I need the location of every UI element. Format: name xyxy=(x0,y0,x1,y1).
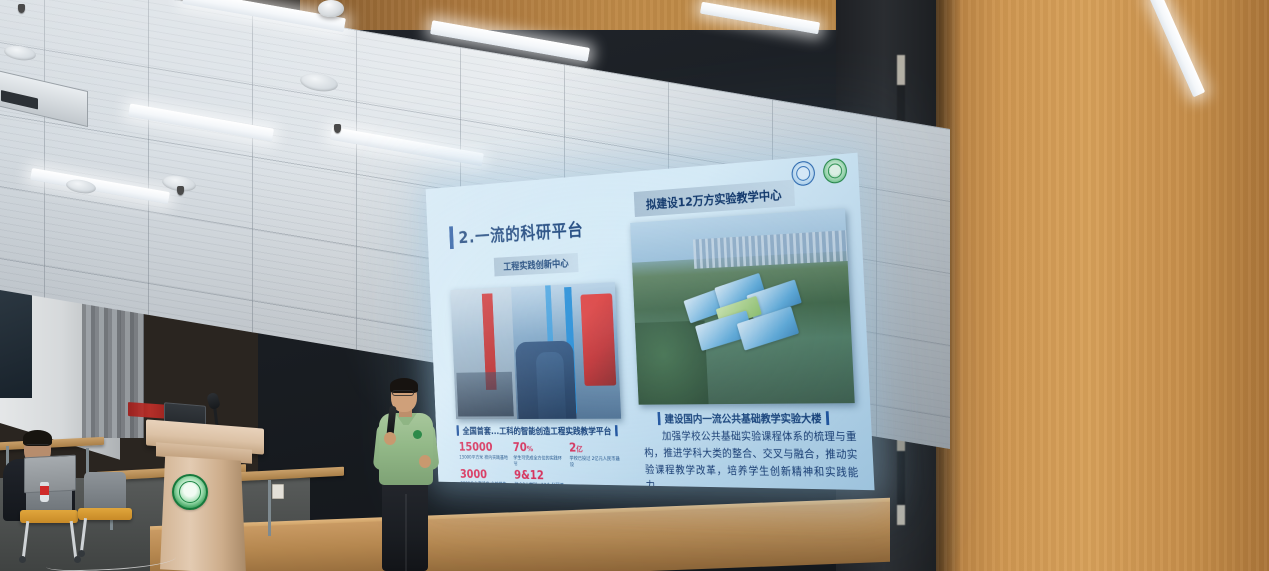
podium-university-emblem-icon xyxy=(172,474,208,510)
fire-sprinkler xyxy=(18,4,25,13)
window-left xyxy=(0,278,32,398)
right-panel-tag: 拟建设12万方实验教学中心 xyxy=(634,180,795,217)
stat-value: 3000 xyxy=(460,469,510,482)
caption-accent-bar xyxy=(615,425,618,436)
water-bottle xyxy=(40,482,49,502)
gooseneck-mic-head xyxy=(206,392,221,410)
presenter-legs xyxy=(382,482,428,571)
right-photo-caption: 建设国内一流公共基础教学实验大楼 xyxy=(657,410,829,426)
title-accent-bar xyxy=(449,226,454,249)
slide-logos xyxy=(791,158,847,187)
right-caption-text: 建设国内一流公共基础教学实验大楼 xyxy=(664,410,822,426)
presenter-shirt-logo xyxy=(413,430,422,439)
stat-desc: 学生可完成全方位的实践环节 xyxy=(513,455,565,468)
wood-wall-right xyxy=(936,0,1269,571)
stat-item: 15000 13000平方米 校内实践基地 xyxy=(459,442,510,468)
audience-laptop[interactable] xyxy=(24,455,76,494)
stat-value: 2亿 xyxy=(569,442,623,455)
chair-caster xyxy=(19,556,26,563)
left-photo-caption: 全国首套...工科的智能创造工程实践教学平台 xyxy=(456,424,618,437)
caption-accent-bar xyxy=(826,411,830,425)
lab-photo xyxy=(450,282,621,419)
stat-value: 9&12 xyxy=(514,470,566,483)
lab-machine xyxy=(580,293,616,386)
slide-title: 2.一流的科研平台 xyxy=(449,216,584,249)
stat-desc: 学校已投过 2亿元人民币建设 xyxy=(569,456,623,470)
caption-accent-bar xyxy=(657,412,660,425)
chair-backrest xyxy=(84,472,126,510)
presenter-glasses xyxy=(392,390,414,396)
left-panel-tag: 工程实践创新中心 xyxy=(494,253,579,276)
security-camera-icon xyxy=(318,0,344,17)
stat-item: 70% 学生可完成全方位的实践环节 xyxy=(513,442,566,468)
left-caption-text: 全国首套...工科的智能创造工程实践教学平台 xyxy=(462,424,611,437)
lab-students xyxy=(536,352,566,419)
presenter-left-hand xyxy=(384,432,396,445)
university-seal-green-icon xyxy=(823,158,848,185)
audience-person-glasses xyxy=(26,444,49,450)
lab-photo-right-half xyxy=(511,282,621,419)
desk-leg xyxy=(268,480,271,536)
slide-title-text: 2.一流的科研平台 xyxy=(458,216,584,248)
university-seal-blue-icon xyxy=(791,160,815,186)
fire-sprinkler xyxy=(177,186,184,195)
right-panel-body-text: 加强学校公共基础实验课程体系的梳理与重构，推进学科大类的整合、交叉与融合，推动实… xyxy=(643,428,859,490)
fire-sprinkler xyxy=(334,124,341,133)
stat-desc: 13000平方米 校内实践基地 xyxy=(459,455,509,462)
stat-value: 15000 xyxy=(459,442,509,454)
stat-value: 70% xyxy=(513,442,565,455)
wall-socket xyxy=(272,484,284,499)
stat-item: 2亿 学校已投过 2亿元人民币建设 xyxy=(569,442,624,469)
campus-rendering-photo xyxy=(630,208,855,404)
caption-accent-bar xyxy=(456,425,459,435)
lecture-hall-photo: 2.一流的科研平台 工程实践创新中心 拟建设12万方实验教学中心 xyxy=(0,0,1269,571)
presenter-right-hand xyxy=(419,455,431,468)
lab-photo-left-half xyxy=(450,287,516,419)
projection-screen[interactable]: 2.一流的科研平台 工程实践创新中心 拟建设12万方实验教学中心 xyxy=(426,153,875,491)
